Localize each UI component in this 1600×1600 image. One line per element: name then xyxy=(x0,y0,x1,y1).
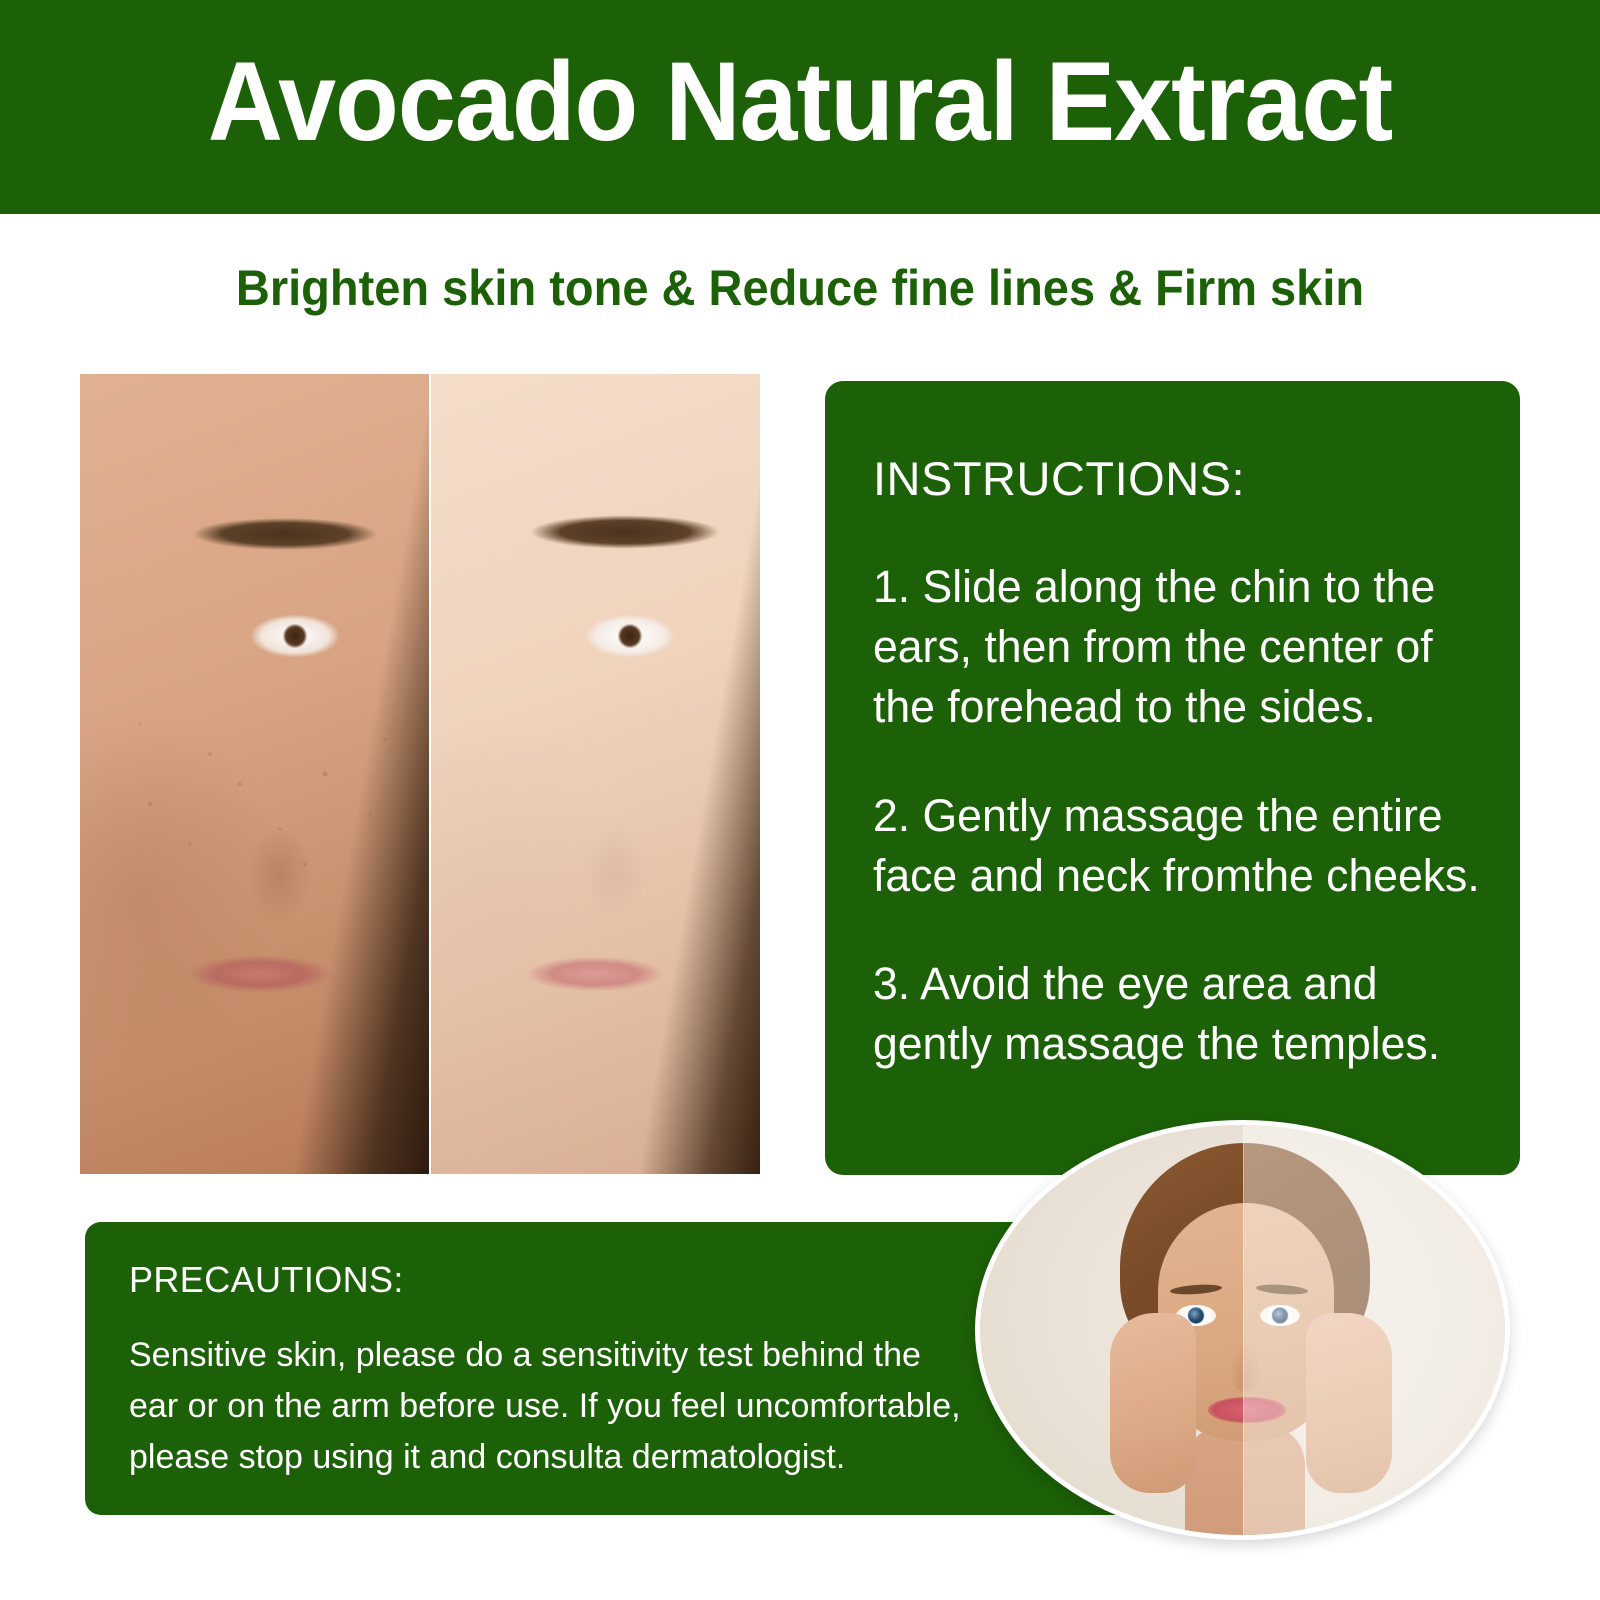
instructions-panel: INSTRUCTIONS: 1. Slide along the chin to… xyxy=(825,381,1520,1175)
instructions-step-1: 1. Slide along the chin to the ears, the… xyxy=(873,557,1480,738)
photo-half-after xyxy=(430,374,760,1174)
portrait-hand-left xyxy=(1110,1313,1196,1493)
subtitle-tagline: Brighten skin tone & Reduce fine lines &… xyxy=(48,258,1552,318)
face-illustration-after xyxy=(430,374,760,1174)
instructions-heading: INSTRUCTIONS: xyxy=(873,453,1486,505)
portrait-treated-half-overlay xyxy=(1243,1125,1506,1535)
instructions-step-2: 2. Gently massage the entire face and ne… xyxy=(873,786,1480,907)
precautions-body: Sensitive skin, please do a sensitivity … xyxy=(129,1330,969,1483)
before-after-divider xyxy=(429,374,431,1174)
portrait-split-divider xyxy=(1243,1125,1244,1535)
header-banner: Avocado Natural Extract xyxy=(0,0,1600,214)
oval-portrait-photo xyxy=(975,1120,1510,1540)
oval-portrait-inner xyxy=(980,1125,1505,1535)
photo-half-before xyxy=(80,374,430,1174)
portrait-pupil-left xyxy=(1189,1309,1203,1323)
before-after-photo xyxy=(80,374,760,1174)
page-title: Avocado Natural Extract xyxy=(56,38,1544,167)
face-illustration-before xyxy=(80,374,430,1174)
instructions-step-3: 3. Avoid the eye area and gently massage… xyxy=(873,954,1480,1075)
